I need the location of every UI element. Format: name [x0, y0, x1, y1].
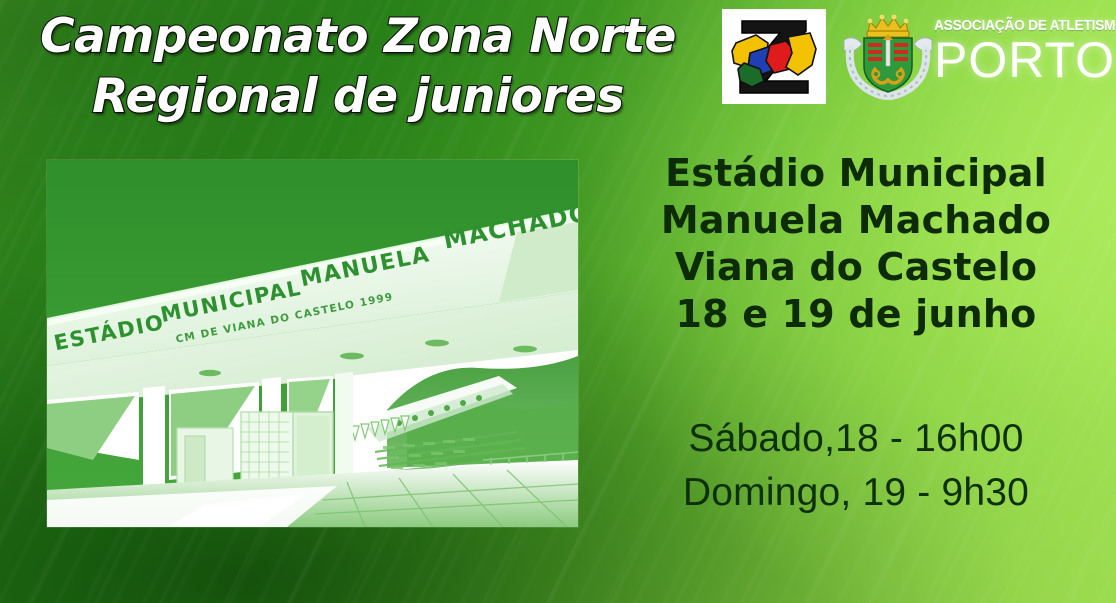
associacao-atletismo-porto-logo: ASSOCIAÇÃO DE ATLETISMO DO PORTO — [836, 8, 1112, 104]
schedule-saturday: Sábado,18 - 16h00 — [596, 412, 1116, 466]
porto-subtitle: ASSOCIAÇÃO DE ATLETISMO DO — [934, 18, 1105, 34]
poster-title: Campeonato Zona Norte Regional de junior… — [0, 8, 716, 126]
venue-line-2: Manuela Machado — [596, 197, 1116, 244]
venue-line-1: Estádio Municipal — [596, 150, 1116, 197]
porto-wordmark: ASSOCIAÇÃO DE ATLETISMO DO PORTO — [934, 18, 1114, 86]
title-line-2: Regional de juniores — [0, 68, 716, 126]
zona-norte-logo-graphic — [722, 9, 826, 104]
porto-crest-icon — [836, 10, 940, 102]
zona-norte-logo — [722, 9, 826, 104]
stadium-photo: ESTÁDIO MUNICIPAL MANUELA MACHADO CM DE … — [47, 160, 578, 527]
schedule-info: Sábado,18 - 16h00 Domingo, 19 - 9h30 — [596, 412, 1116, 520]
event-poster: Campeonato Zona Norte Regional de junior… — [0, 0, 1116, 603]
schedule-sunday: Domingo, 19 - 9h30 — [596, 466, 1116, 520]
title-line-1: Campeonato Zona Norte — [0, 8, 716, 66]
venue-line-3: Viana do Castelo — [596, 244, 1116, 291]
porto-title: PORTO — [934, 34, 1114, 86]
stadium-photo-graphic: ESTÁDIO MUNICIPAL MANUELA MACHADO CM DE … — [47, 160, 578, 527]
venue-info: Estádio Municipal Manuela Machado Viana … — [596, 150, 1116, 338]
venue-line-4: 18 e 19 de junho — [596, 291, 1116, 338]
